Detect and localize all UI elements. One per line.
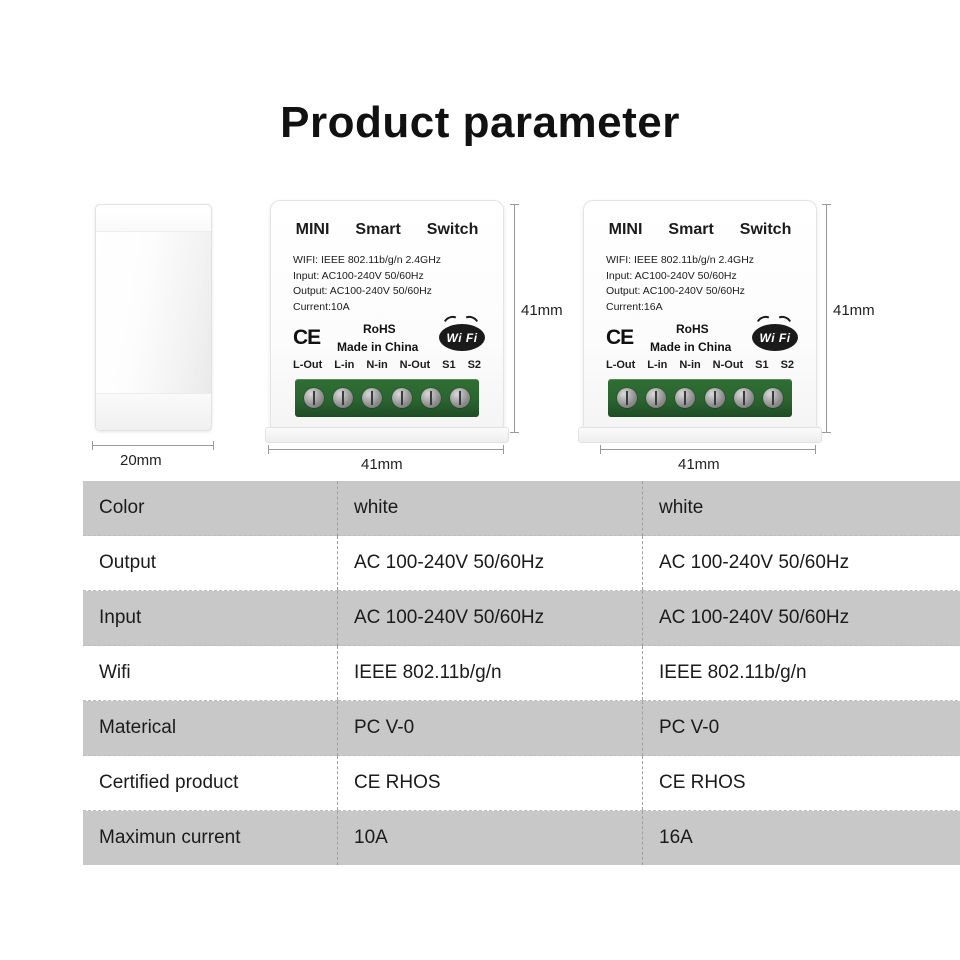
row-value-materical-1: PC V-0 [338,701,643,756]
wifi-icon: Wi Fi [435,318,487,354]
device-1-heading: MINI Smart Switch [271,221,503,239]
device-1-heading-switch: Switch [427,221,479,239]
table-row: Wifi IEEE 802.11b/g/n IEEE 802.11b/g/n [83,646,960,701]
row-value-current-1: 10A [338,811,643,866]
specification-table: Color white white Output AC 100-240V 50/… [83,481,960,865]
row-label-color: Color [83,481,338,536]
device-1-height-tick-bottom [510,432,519,433]
device-1-specs: WIFI: IEEE 802.11b/g/n 2.4GHz Input: AC1… [293,253,441,315]
screw-icon [763,388,783,408]
device-2-terminal-n-out: N-Out [713,359,744,371]
wifi-badge-label: Wi Fi [752,324,798,351]
device-2-width-tick-left [600,445,601,454]
device-card-10a: MINI Smart Switch WIFI: IEEE 802.11b/g/n… [270,200,504,434]
row-value-materical-2: PC V-0 [643,701,960,756]
device-2-terminal-s2: S2 [781,359,794,371]
device-2-height-label: 41mm [833,302,875,319]
row-label-output: Output [83,536,338,591]
device-2-height-dimension-line [826,204,827,432]
row-label-materical: Materical [83,701,338,756]
device-2-specs: WIFI: IEEE 802.11b/g/n 2.4GHz Input: AC1… [606,253,754,315]
device-1-spec-wifi: WIFI: IEEE 802.11b/g/n 2.4GHz [293,253,441,269]
screw-icon [421,388,441,408]
screw-icon [450,388,470,408]
device-1-terminal-labels: L-Out L-in N-in N-Out S1 S2 [271,359,503,371]
device-2-base [578,427,822,443]
row-value-output-1: AC 100-240V 50/60Hz [338,536,643,591]
device-2-heading: MINI Smart Switch [584,221,816,239]
row-value-output-2: AC 100-240V 50/60Hz [643,536,960,591]
row-value-certified-2: CE RHOS [643,756,960,811]
device-1-height-dimension-line [514,204,515,432]
screw-icon [646,388,666,408]
side-module-dimension-line [92,445,214,446]
screw-icon [675,388,695,408]
row-label-input: Input [83,591,338,646]
row-value-color-2: white [643,481,960,536]
screw-icon [304,388,324,408]
wifi-badge-label: Wi Fi [439,324,485,351]
device-2-made-in-label: Made in China [650,340,731,354]
device-2-terminal-l-in: L-in [647,359,667,371]
table-row: Input AC 100-240V 50/60Hz AC 100-240V 50… [83,591,960,646]
row-value-wifi-1: IEEE 802.11b/g/n [338,646,643,701]
row-value-certified-1: CE RHOS [338,756,643,811]
screw-icon [734,388,754,408]
device-2-width-label: 41mm [678,456,720,473]
row-value-wifi-2: IEEE 802.11b/g/n [643,646,960,701]
device-2-spec-output: Output: AC100-240V 50/60Hz [606,284,754,300]
side-module-cap [96,205,211,232]
side-module-tick-right [213,441,214,450]
device-2-terminal-labels: L-Out L-in N-in N-Out S1 S2 [584,359,816,371]
screw-icon [705,388,725,408]
screw-icon [392,388,412,408]
row-label-wifi: Wifi [83,646,338,701]
device-1-terminal-l-out: L-Out [293,359,322,371]
device-1-height-tick-top [510,204,519,205]
device-1-height-label: 41mm [521,302,563,319]
device-card-16a: MINI Smart Switch WIFI: IEEE 802.11b/g/n… [583,200,817,434]
device-1-heading-mini: MINI [296,221,330,239]
device-2-height-tick-bottom [822,432,831,433]
row-value-input-1: AC 100-240V 50/60Hz [338,591,643,646]
device-1-terminal-block [295,379,479,417]
side-module-tick-left [92,441,93,450]
side-module-base [96,393,211,430]
row-label-certified-product: Certified product [83,756,338,811]
table-row: Output AC 100-240V 50/60Hz AC 100-240V 5… [83,536,960,591]
row-value-input-2: AC 100-240V 50/60Hz [643,591,960,646]
row-value-color-1: white [338,481,643,536]
device-1-width-label: 41mm [361,456,403,473]
device-2-rohs-label: RoHS [676,322,709,336]
device-1-heading-smart: Smart [355,221,400,239]
device-1-terminal-s2: S2 [468,359,481,371]
wifi-icon: Wi Fi [748,318,800,354]
row-value-current-2: 16A [643,811,960,866]
device-2-heading-mini: MINI [609,221,643,239]
side-module-dimension-label: 20mm [120,452,162,469]
device-2-spec-input: Input: AC100-240V 50/60Hz [606,269,754,285]
table-row: Color white white [83,481,960,536]
device-2-heading-switch: Switch [740,221,792,239]
device-1-width-dimension-line [268,449,504,450]
screw-icon [362,388,382,408]
ce-mark-icon: CE [606,326,633,350]
device-1-rohs-label: RoHS [363,322,396,336]
device-1-width-tick-right [503,445,504,454]
device-1-terminal-n-in: N-in [366,359,387,371]
screw-icon [333,388,353,408]
page-title: Product parameter [0,98,960,148]
device-2-terminal-block [608,379,792,417]
product-illustrations: 20mm MINI Smart Switch WIFI: IEEE 802.11… [0,196,960,476]
device-2-spec-current: Current:16A [606,300,754,316]
device-1-certifications: CE RoHS Made in China Wi Fi [271,316,503,364]
table-row: Maximun current 10A 16A [83,811,960,866]
device-2-certifications: CE RoHS Made in China Wi Fi [584,316,816,364]
device-1-width-tick-left [268,445,269,454]
side-module-render [95,204,212,431]
ce-mark-icon: CE [293,326,320,350]
device-1-terminal-l-in: L-in [334,359,354,371]
device-2-terminal-n-in: N-in [679,359,700,371]
device-1-spec-output: Output: AC100-240V 50/60Hz [293,284,441,300]
table-row: Materical PC V-0 PC V-0 [83,701,960,756]
device-1-terminal-n-out: N-Out [400,359,431,371]
row-label-maximun-current: Maximun current [83,811,338,866]
device-2-width-dimension-line [600,449,816,450]
device-2-terminal-s1: S1 [755,359,768,371]
device-1-spec-input: Input: AC100-240V 50/60Hz [293,269,441,285]
device-1-base [265,427,509,443]
device-2-height-tick-top [822,204,831,205]
device-1-terminal-s1: S1 [442,359,455,371]
table-row: Certified product CE RHOS CE RHOS [83,756,960,811]
device-1-made-in-label: Made in China [337,340,418,354]
device-2-spec-wifi: WIFI: IEEE 802.11b/g/n 2.4GHz [606,253,754,269]
device-1-spec-current: Current:10A [293,300,441,316]
screw-icon [617,388,637,408]
device-2-terminal-l-out: L-Out [606,359,635,371]
device-2-width-tick-right [815,445,816,454]
device-2-heading-smart: Smart [668,221,713,239]
